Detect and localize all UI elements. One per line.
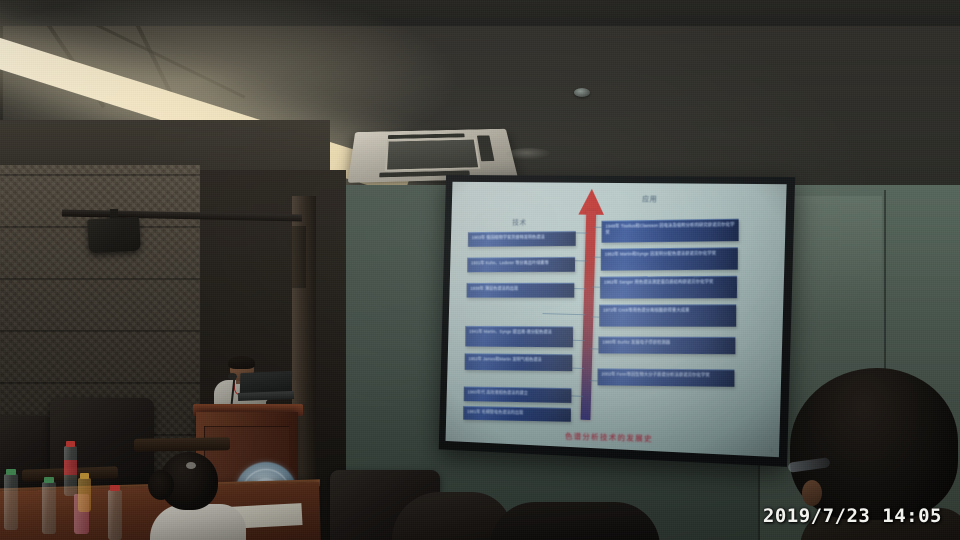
wall-light-reflection xyxy=(790,196,882,326)
bottle-cap xyxy=(80,473,89,479)
camera-timestamp: 2019/7/23 14:05 xyxy=(763,505,942,527)
ceiling-stain xyxy=(506,148,552,160)
presenter-hair xyxy=(228,356,255,369)
water-bottle[interactable] xyxy=(64,446,77,496)
timeline-item-application: 1962年 Sanger 用色谱法测定蛋白质结构获诺贝尔化学奖 xyxy=(600,276,737,299)
bottle-cap xyxy=(44,477,54,483)
bottle-cap xyxy=(110,485,120,491)
timeline-tick xyxy=(543,313,586,315)
attendee-ear xyxy=(802,480,822,506)
ac-vent-right xyxy=(477,135,494,161)
timeline-item-technology: 1952年 James和Martin 发明气相色谱法 xyxy=(465,353,573,371)
smoke-detector xyxy=(574,88,590,97)
slide-column-header-application: 应用 xyxy=(642,194,657,204)
wall-mounted-speaker xyxy=(87,217,141,254)
projection-screen-surface: 技术 应用 xyxy=(446,182,787,457)
bottle-cap xyxy=(66,441,75,447)
timeline-item-application: 1948年 Tiselius和Claesson 因电泳及吸附分析的研究获诺贝尔化… xyxy=(602,219,739,243)
chair-armrest xyxy=(134,437,230,452)
timeline-item-application: 1972年 Crick等用色谱分离核酸获得重大成果 xyxy=(599,304,736,326)
timeline-item-technology: 1938年 薄层色谱法的出现 xyxy=(467,283,575,298)
slide-title: 色谱分析技术的发展史 xyxy=(564,431,652,445)
attendee-hair-bun xyxy=(148,470,174,500)
juice-bottle[interactable] xyxy=(78,478,91,512)
ac-vent-top xyxy=(388,133,465,138)
attendee-foreground-left xyxy=(150,452,228,540)
bottle-label xyxy=(64,460,77,475)
podium-microphone xyxy=(228,373,237,380)
presentation-slide: 技术 应用 xyxy=(446,182,787,457)
attendee-hair-tie xyxy=(186,462,196,469)
water-bottle[interactable] xyxy=(108,490,122,540)
bottle-cap xyxy=(6,469,16,475)
projection-screen[interactable]: 技术 应用 xyxy=(439,175,796,467)
arrow-shaft xyxy=(581,211,597,420)
timeline-item-technology: 1960年代 高效液相色谱法的建立 xyxy=(464,386,572,402)
timeline-item-application: 1952年 Martin和Synge 因发明分配色谱法获诺贝尔化学奖 xyxy=(601,247,738,270)
timeline-item-application: 1980年 Burlitz 发展电子俘获检测器 xyxy=(598,336,735,354)
timeline-item-application: 2002年 Fenn等因生物大分子质谱分析法获诺贝尔化学奖 xyxy=(598,368,735,386)
water-bottle[interactable] xyxy=(4,474,18,530)
timeline-item-technology: 1903年 俄国植物学家茨维特发明色谱法 xyxy=(468,231,576,247)
attendee-seated-center-right xyxy=(490,502,660,540)
water-bottle[interactable] xyxy=(42,482,56,534)
timeline-item-technology: 1981年 毛细管电色谱法的出现 xyxy=(463,406,571,422)
slide-column-header-technology: 技术 xyxy=(512,218,527,228)
slide-page-number: 1 xyxy=(770,448,773,453)
conference-room-photo: 技术 应用 xyxy=(0,0,960,540)
ac-intake-grille xyxy=(384,138,480,170)
timeline-item-technology: 1941年 Martin、Synge 提出液-液分配色谱法 xyxy=(465,326,573,347)
timeline-item-technology: 1931年 Kuhn、Lederer 等分离出叶绿素等 xyxy=(467,257,575,272)
projector-support-column xyxy=(292,226,306,288)
